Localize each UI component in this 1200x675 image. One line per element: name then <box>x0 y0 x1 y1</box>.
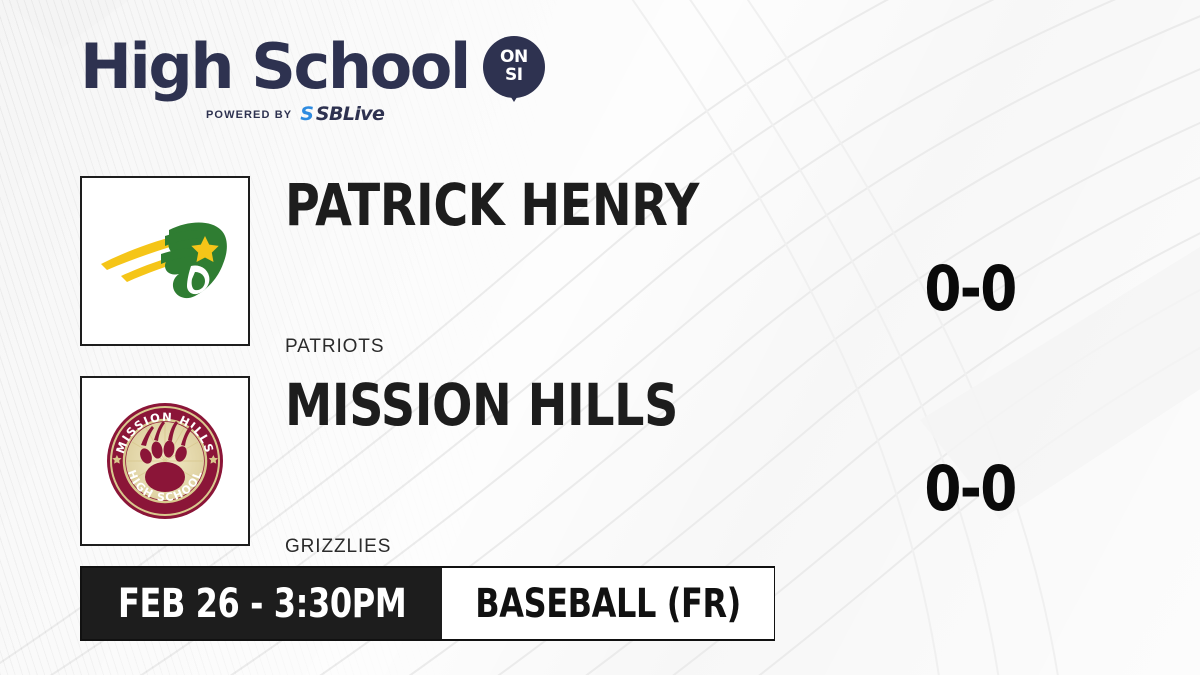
team-score: 0-0 <box>910 458 1030 520</box>
game-sport: BASEBALL (FR) <box>476 584 742 624</box>
team-score: 0-0 <box>910 258 1030 320</box>
team-mascot: PATRIOTS <box>285 336 384 358</box>
team-name: PATRICK HENRY <box>285 176 699 234</box>
matchup-graphic: High School ON SI POWERED BY S SBLive <box>0 0 1200 675</box>
powered-by-label: POWERED BY <box>206 109 292 121</box>
on-si-pin-icon: ON SI <box>483 36 545 98</box>
game-sport-block: BASEBALL (FR) <box>442 568 774 639</box>
team-name: MISSION HILLS <box>285 376 678 434</box>
powered-by-row: POWERED BY S SBLive <box>206 105 545 124</box>
pin-top-label: ON <box>500 50 528 66</box>
sblive-logo: S SBLive <box>300 105 384 124</box>
sblive-wordmark: SBLive <box>316 105 384 124</box>
mission-hills-grizzlies-logo: MISSION HILLS HIGH SCHOOL <box>80 376 250 546</box>
wordmark-text: High School <box>80 36 469 98</box>
team-mascot: GRIZZLIES <box>285 536 391 558</box>
game-info-bar: FEB 26 - 3:30PM BASEBALL (FR) <box>80 566 775 641</box>
game-datetime: FEB 26 - 3:30PM <box>118 584 406 624</box>
sblive-mark-icon: S <box>300 105 313 124</box>
wordmark: High School ON SI <box>80 36 545 98</box>
game-datetime-block: FEB 26 - 3:30PM <box>82 568 442 639</box>
pin-bottom-label: SI <box>505 68 523 84</box>
patrick-henry-patriots-logo <box>80 176 250 346</box>
brand-header: High School ON SI POWERED BY S SBLive <box>80 36 545 124</box>
